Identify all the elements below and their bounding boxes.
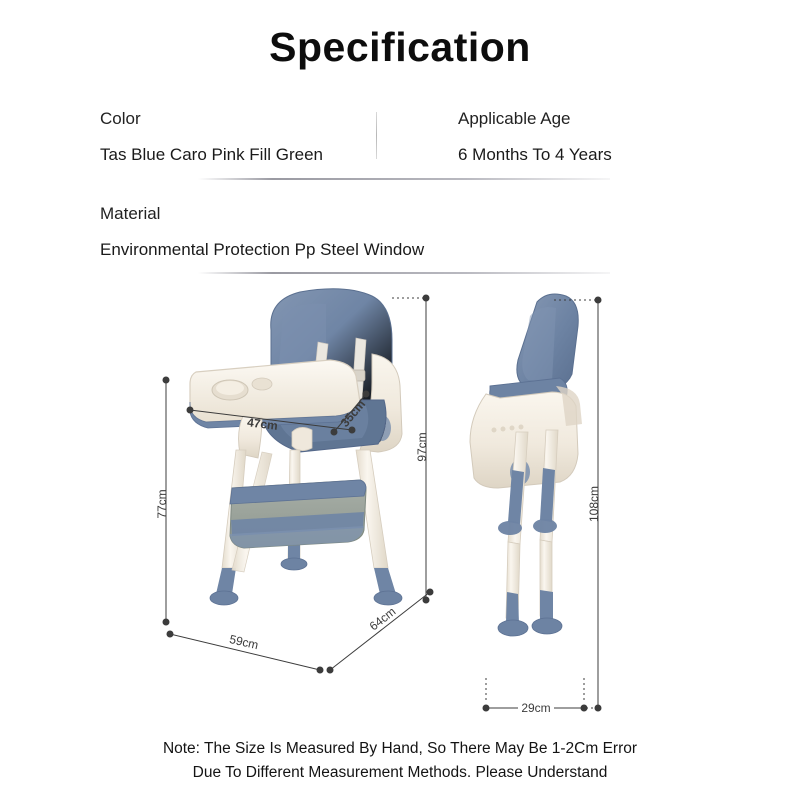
- spec-value-material: Environmental Protection Pp Steel Window: [100, 239, 424, 261]
- dimension-base-width: 59cm: [167, 631, 323, 673]
- dimension-label-108cm: 108cm: [587, 486, 601, 522]
- dimension-label-97cm: 97cm: [415, 432, 429, 461]
- specification-page: Specification Color Tas Blue Caro Pink F…: [0, 0, 800, 800]
- spec-cell-color: Color Tas Blue Caro Pink Fill Green: [100, 108, 323, 166]
- spec-label-applicable-age: Applicable Age: [458, 108, 612, 130]
- spec-cell-material: Material Environmental Protection Pp Ste…: [100, 203, 424, 261]
- high-chair-folded-side-view: [470, 294, 582, 636]
- spec-value-applicable-age: 6 Months To 4 Years: [458, 144, 612, 166]
- dimension-label-29cm: 29cm: [521, 701, 550, 715]
- spec-column-divider: [376, 112, 377, 159]
- storage-basket: [230, 480, 366, 548]
- measurement-note-line-1: Note: The Size Is Measured By Hand, So T…: [0, 737, 800, 761]
- dimension-overall-height: 97cm: [392, 295, 429, 603]
- spec-divider-rule-1: [198, 178, 610, 180]
- spec-cell-applicable-age: Applicable Age 6 Months To 4 Years: [458, 108, 612, 166]
- product-dimension-diagram: 77cm 97cm 47cm: [0, 282, 800, 732]
- high-chair-assembled-front-view: [190, 289, 402, 605]
- spec-value-color: Tas Blue Caro Pink Fill Green: [100, 144, 323, 166]
- spec-label-color: Color: [100, 108, 323, 130]
- dimension-label-77cm: 77cm: [155, 489, 169, 518]
- dimension-seat-height: 77cm: [155, 377, 169, 625]
- spec-label-material: Material: [100, 203, 424, 225]
- dimension-folded-width: 29cm: [483, 678, 587, 715]
- measurement-note: Note: The Size Is Measured By Hand, So T…: [0, 737, 800, 785]
- spec-divider-rule-2: [198, 272, 610, 274]
- measurement-note-line-2: Due To Different Measurement Methods. Pl…: [0, 761, 800, 785]
- page-title: Specification: [0, 24, 800, 71]
